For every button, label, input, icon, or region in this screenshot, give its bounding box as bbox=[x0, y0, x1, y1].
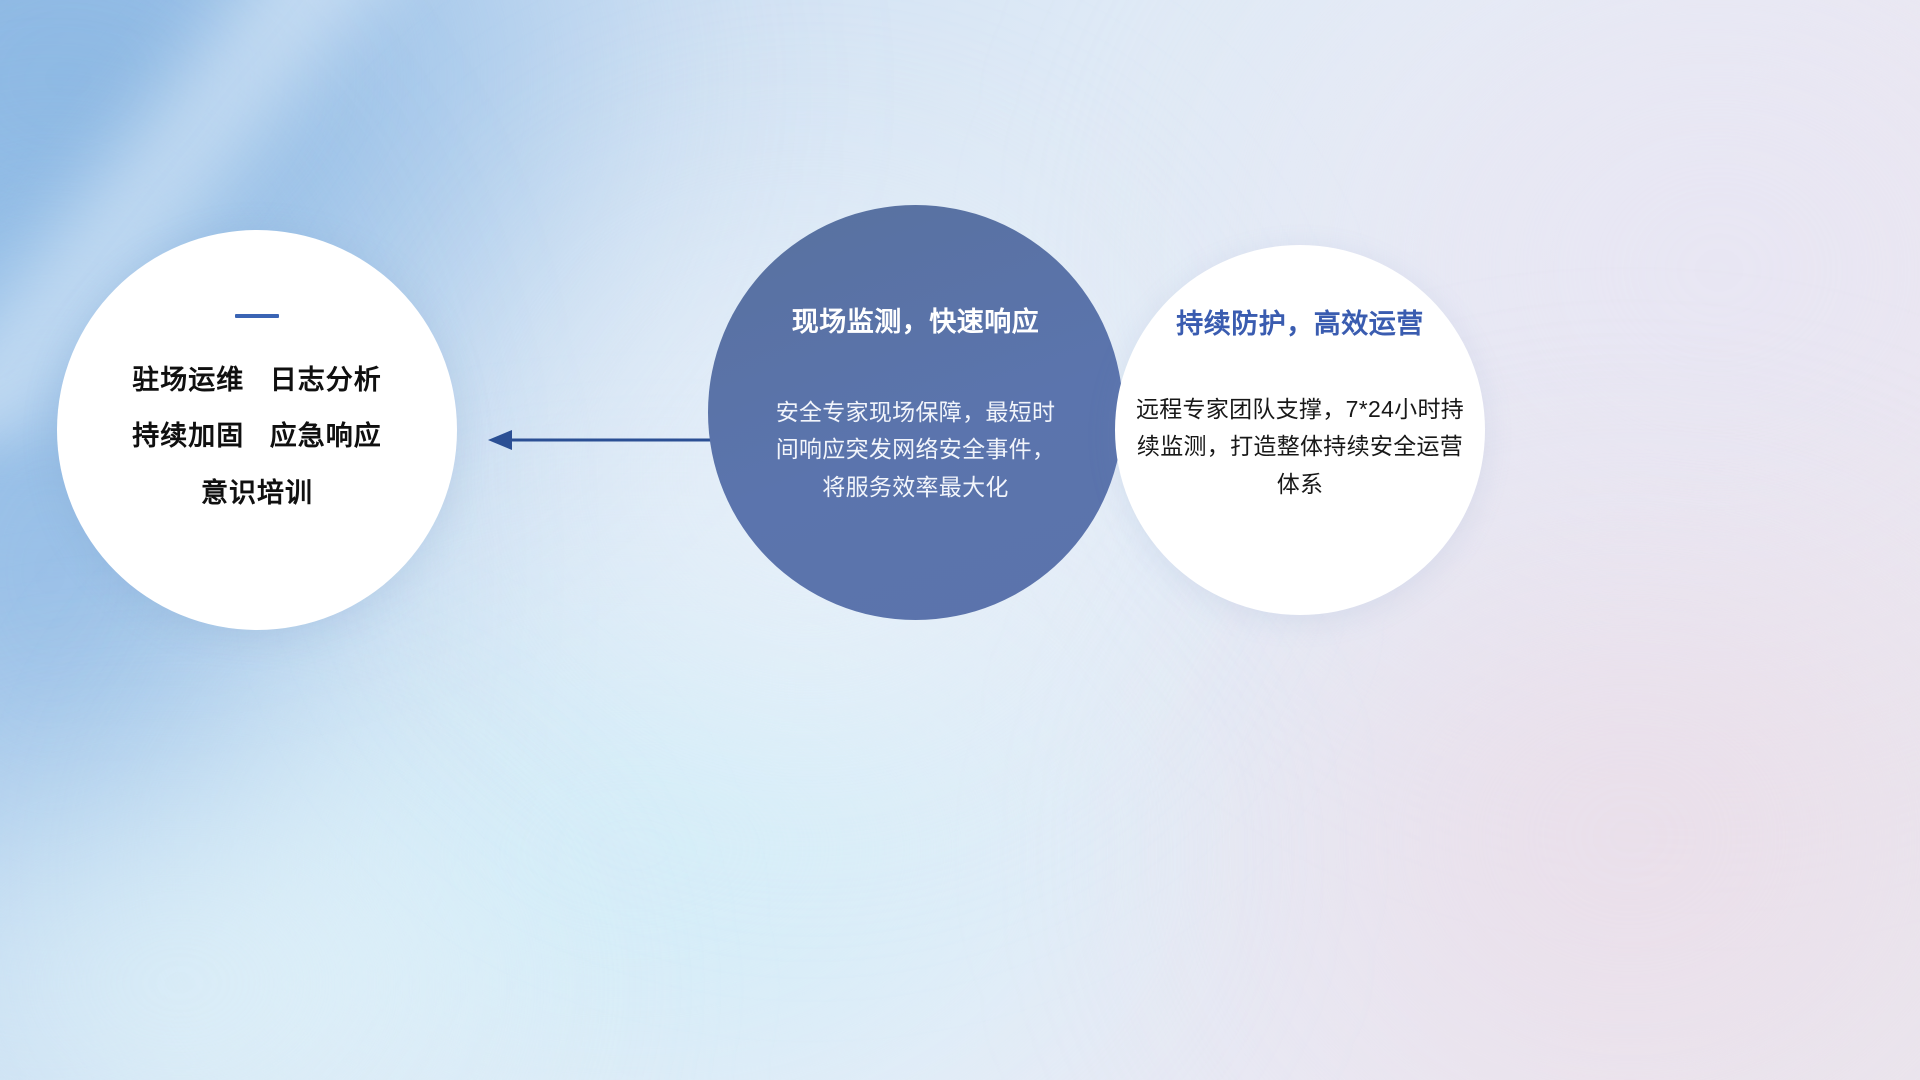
service-tag-row: 意识培训 bbox=[132, 479, 382, 507]
diagram-stage: 驻场运维 日志分析 持续加固 应急响应 意识培训 现场监测，快速响应 安全专家现… bbox=[0, 0, 1920, 1080]
service-tag-row: 持续加固 应急响应 bbox=[132, 422, 382, 450]
node-left-content: 驻场运维 日志分析 持续加固 应急响应 意识培训 bbox=[57, 230, 457, 630]
service-tag-list: 驻场运维 日志分析 持续加固 应急响应 意识培训 bbox=[132, 366, 382, 507]
accent-dash-divider bbox=[235, 314, 279, 318]
node-middle-body: 安全专家现场保障，最短时间响应突发网络安全事件，将服务效率最大化 bbox=[765, 394, 1067, 506]
service-tag-row: 驻场运维 日志分析 bbox=[132, 366, 382, 394]
node-right-content: 持续防护，高效运营 远程专家团队支撑，7*24小时持续监测，打造整体持续安全运营… bbox=[1115, 245, 1485, 615]
flow-arrow-icon bbox=[480, 418, 720, 462]
node-right-body: 远程专家团队支撑，7*24小时持续监测，打造整体持续安全运营体系 bbox=[1132, 391, 1468, 503]
node-middle-title: 现场监测，快速响应 bbox=[792, 300, 1040, 339]
node-middle-content: 现场监测，快速响应 安全专家现场保障，最短时间响应突发网络安全事件，将服务效率最… bbox=[708, 205, 1123, 620]
node-right-title: 持续防护，高效运营 bbox=[1176, 302, 1424, 341]
